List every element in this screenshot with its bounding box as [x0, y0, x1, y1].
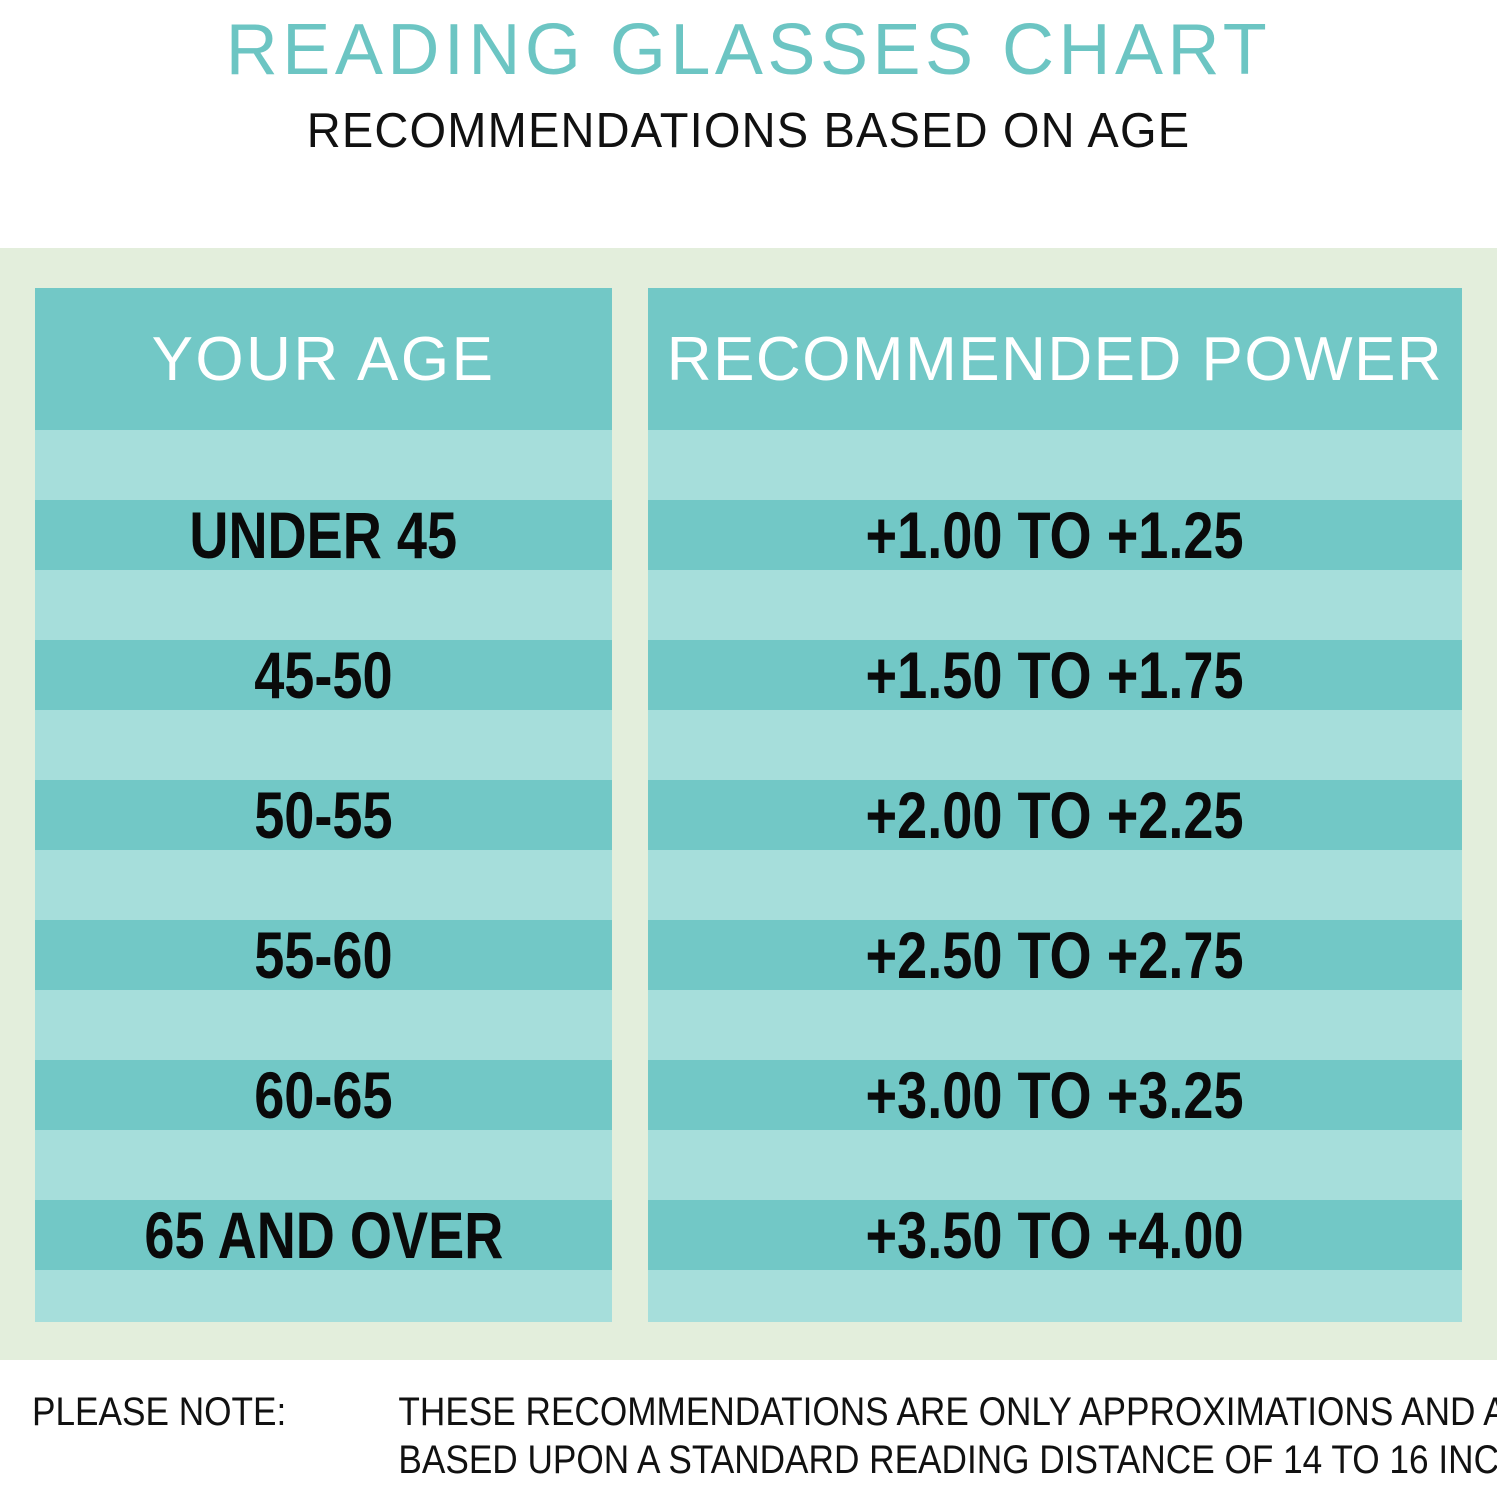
- note-line-1: THESE RECOMMENDATIONS ARE ONLY APPROXIMA…: [398, 1388, 1401, 1436]
- cell-layer-power: RECOMMENDED POWER+1.00 TO +1.25+1.50 TO …: [648, 288, 1462, 1322]
- cell-age: 55-60: [254, 917, 392, 993]
- page-title: READING GLASSES CHART: [0, 8, 1497, 92]
- table-row: +3.50 TO +4.00: [648, 1200, 1462, 1270]
- table-row: 45-50: [35, 640, 612, 710]
- table-row: +3.00 TO +3.25: [648, 1060, 1462, 1130]
- table-row: +1.00 TO +1.25: [648, 500, 1462, 570]
- footer-note: PLEASE NOTE: THESE RECOMMENDATIONS ARE O…: [0, 1368, 1497, 1497]
- table-column-power: RECOMMENDED POWER+1.00 TO +1.25+1.50 TO …: [648, 288, 1462, 1322]
- cell-power: +2.50 TO +2.75: [866, 917, 1244, 993]
- cell-age: 50-55: [254, 777, 392, 853]
- cell-age: UNDER 45: [190, 497, 458, 573]
- table-row: 50-55: [35, 780, 612, 850]
- cell-age: 60-65: [254, 1057, 392, 1133]
- table-row: UNDER 45: [35, 500, 612, 570]
- note-line-2: BASED UPON A STANDARD READING DISTANCE O…: [398, 1436, 1401, 1484]
- please-note-label: PLEASE NOTE:: [32, 1388, 286, 1436]
- cell-power: +2.00 TO +2.25: [866, 777, 1244, 853]
- column-header-label: YOUR AGE: [152, 324, 496, 395]
- table-row: +2.50 TO +2.75: [648, 920, 1462, 990]
- cell-layer-age: YOUR AGEUNDER 4545-5050-5555-6060-6565 A…: [35, 288, 612, 1322]
- cell-power: +3.50 TO +4.00: [866, 1197, 1244, 1273]
- cell-power: +1.00 TO +1.25: [866, 497, 1244, 573]
- cell-power: +1.50 TO +1.75: [866, 637, 1244, 713]
- column-header-power: RECOMMENDED POWER: [648, 288, 1462, 430]
- page-header: READING GLASSES CHART RECOMMENDATIONS BA…: [0, 0, 1497, 248]
- table-row: 65 AND OVER: [35, 1200, 612, 1270]
- table-row: +1.50 TO +1.75: [648, 640, 1462, 710]
- column-header-age: YOUR AGE: [35, 288, 612, 430]
- note-text-block: THESE RECOMMENDATIONS ARE ONLY APPROXIMA…: [330, 1388, 1470, 1484]
- table-column-age: YOUR AGEUNDER 4545-5050-5555-6060-6565 A…: [35, 288, 612, 1322]
- table-row: +2.00 TO +2.25: [648, 780, 1462, 850]
- page-subtitle: RECOMMENDATIONS BASED ON AGE: [30, 102, 1467, 160]
- table-row: 55-60: [35, 920, 612, 990]
- cell-age: 65 AND OVER: [144, 1197, 503, 1273]
- table-row: 60-65: [35, 1060, 612, 1130]
- column-header-label: RECOMMENDED POWER: [667, 324, 1443, 395]
- cell-power: +3.00 TO +3.25: [866, 1057, 1244, 1133]
- cell-age: 45-50: [254, 637, 392, 713]
